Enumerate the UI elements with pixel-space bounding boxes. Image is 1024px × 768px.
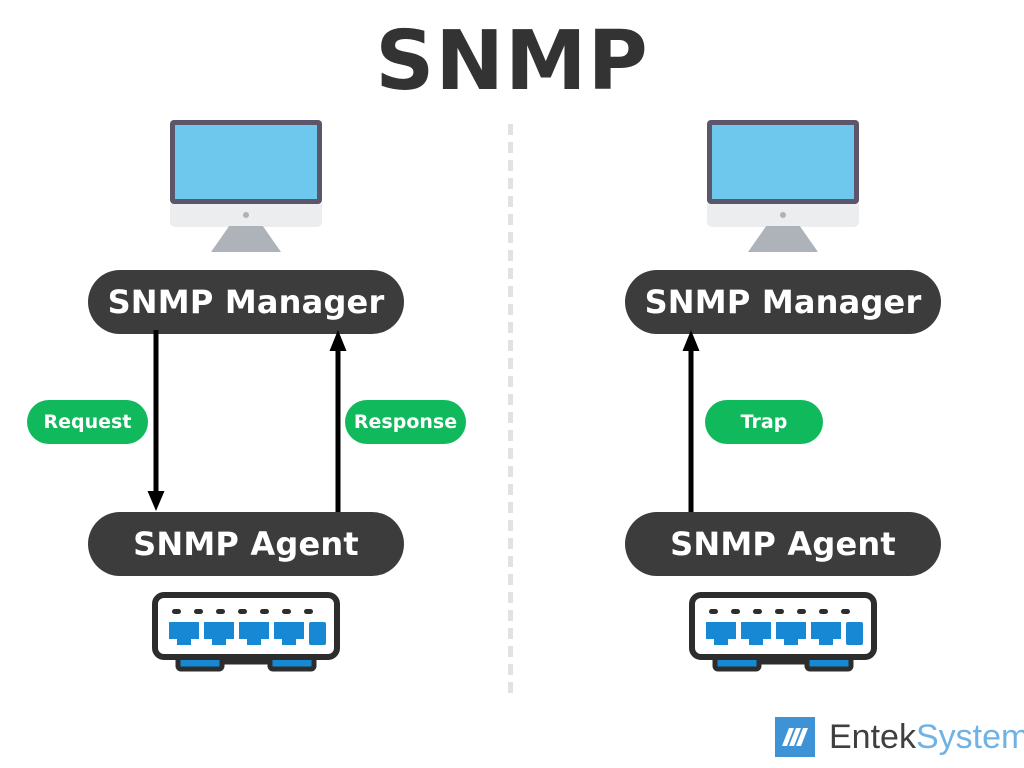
right-network-switch-icon [689,592,877,672]
monitor-chin [707,204,859,227]
monitor-screen [712,125,854,199]
left-network-switch-icon [152,592,340,672]
monitor-stand [748,226,818,252]
monitor-bezel [707,120,859,204]
right-snmp-agent-label: SNMP Agent [670,525,896,563]
panel-divider [508,124,513,694]
logo-word-systems: Systems [916,718,1024,756]
response-badge-label: Response [354,411,457,433]
right-desktop-monitor-icon [707,120,859,250]
monitor-power-dot [780,212,786,218]
logo-word-entek: Entek [829,718,916,756]
monitor-power-dot [243,212,249,218]
monitor-chin [170,204,322,227]
page-title: SNMP [0,16,1024,108]
response-badge[interactable]: Response [345,400,466,444]
left-snmp-agent-node[interactable]: SNMP Agent [88,512,404,576]
request-badge-label: Request [44,411,132,433]
trap-badge-label: Trap [741,411,788,433]
left-desktop-monitor-icon [170,120,322,250]
request-badge[interactable]: Request [27,400,148,444]
monitor-stand [211,226,281,252]
right-snmp-agent-node[interactable]: SNMP Agent [625,512,941,576]
left-snmp-agent-label: SNMP Agent [133,525,359,563]
monitor-bezel [170,120,322,204]
entek-logo-mark-icon [775,717,815,757]
monitor-screen [175,125,317,199]
trap-badge[interactable]: Trap [705,400,823,444]
right-snmp-manager-label: SNMP Manager [645,283,922,321]
diagram-canvas: SNMP SNMP Manager Request Respons [0,0,1024,768]
left-snmp-manager-node[interactable]: SNMP Manager [88,270,404,334]
entek-systems-logo: EntekSystems [775,715,1024,759]
trap-arrow [678,330,704,512]
left-snmp-manager-label: SNMP Manager [108,283,385,321]
entek-systems-wordmark: EntekSystems [829,717,1024,757]
right-snmp-manager-node[interactable]: SNMP Manager [625,270,941,334]
